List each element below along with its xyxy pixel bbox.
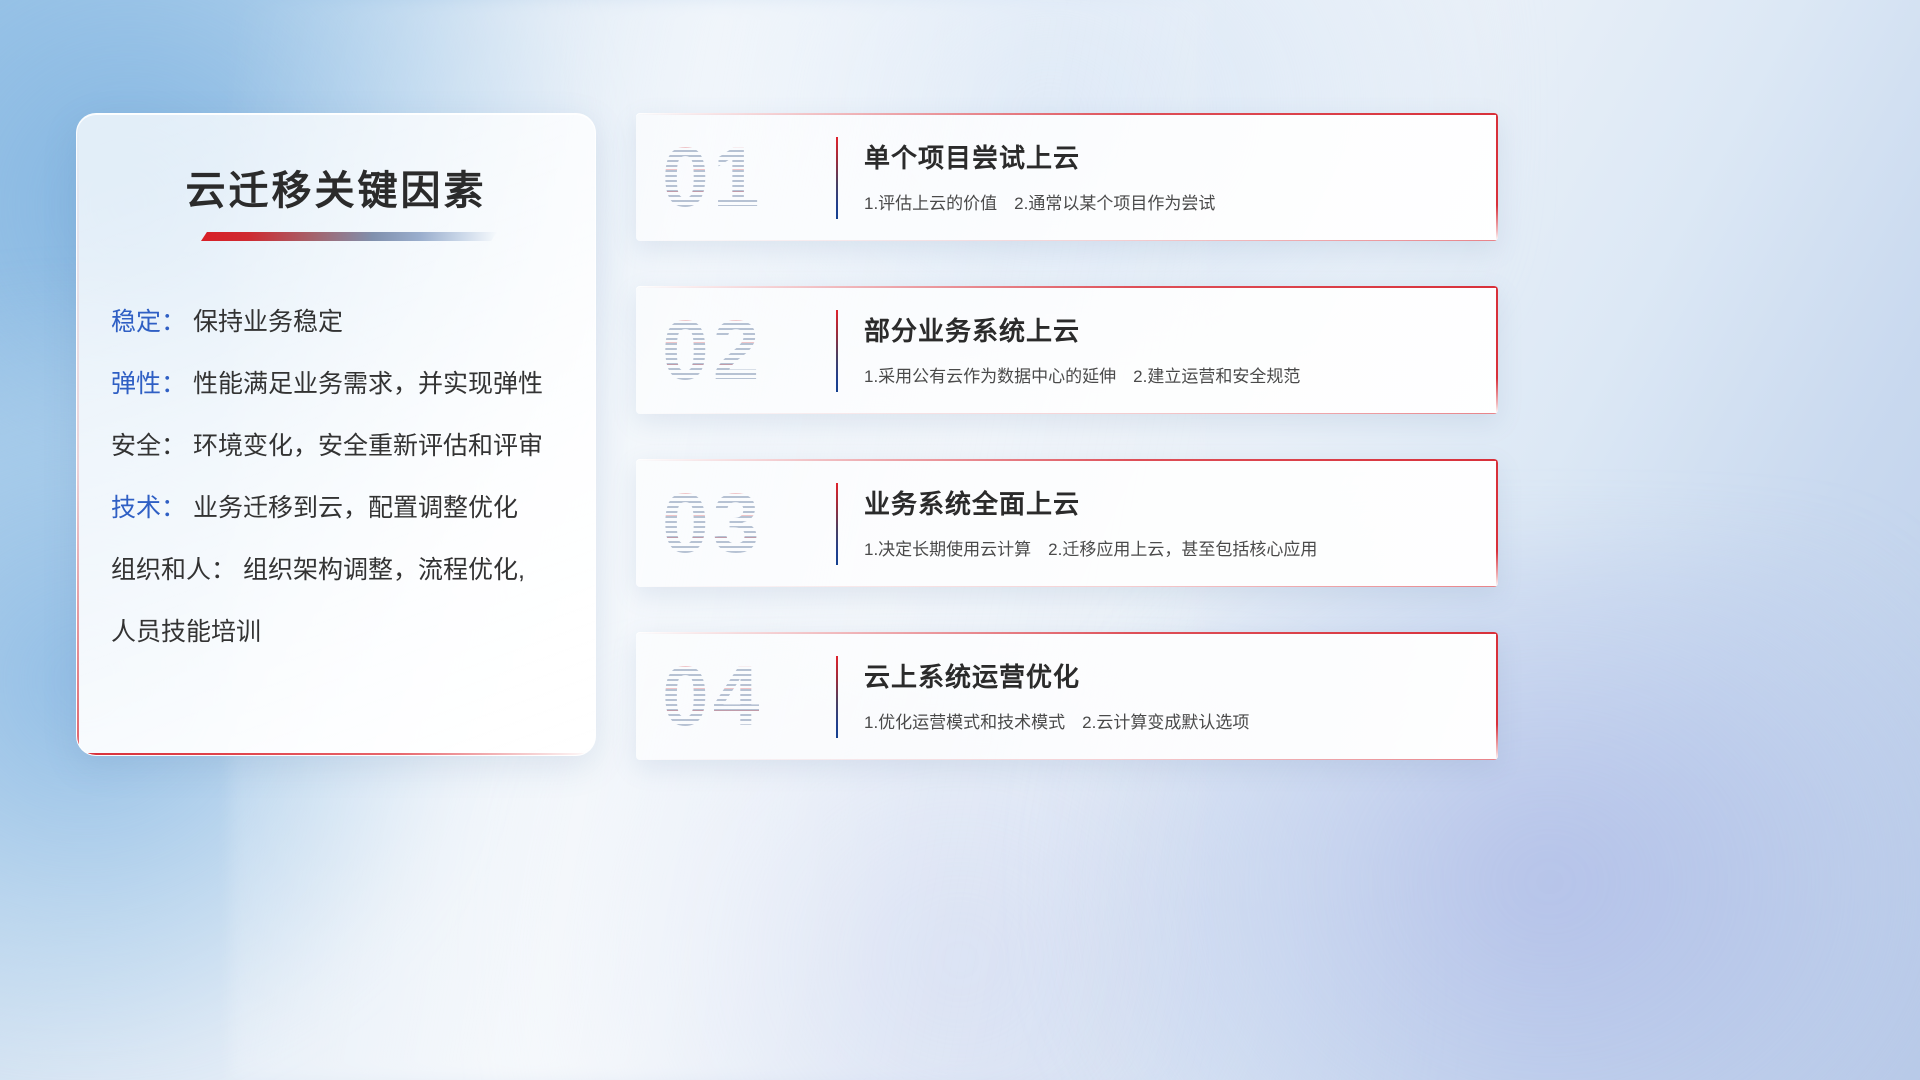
card-top-accent bbox=[636, 459, 1498, 461]
card-bottom-accent bbox=[636, 586, 1498, 587]
stage-card-title: 业务系统全面上云 bbox=[864, 484, 1080, 521]
stage-card-title: 部分业务系统上云 bbox=[864, 311, 1080, 348]
card-bottom-accent bbox=[636, 413, 1498, 414]
factor-value: 环境变化，安全重新评估和评审 bbox=[193, 432, 543, 460]
factor-label: 安全： bbox=[111, 432, 186, 460]
factor-row: 人员技能培训 bbox=[111, 620, 561, 645]
card-bottom-accent bbox=[636, 759, 1498, 760]
card-bottom-accent bbox=[636, 240, 1498, 241]
factor-value: 保持业务稳定 bbox=[193, 308, 343, 336]
stage-card-description: 1.采用公有云作为数据中心的延伸 2.建立运营和安全规范 bbox=[864, 362, 1300, 387]
page-title: 云迁移关键因素 bbox=[77, 158, 595, 216]
factor-row: 稳定： 保持业务稳定 bbox=[111, 310, 561, 335]
card-divider-bar bbox=[836, 656, 838, 738]
factor-label: 稳定： bbox=[111, 308, 186, 336]
key-factors-panel: 云迁移关键因素 稳定： 保持业务稳定弹性： 性能满足业务需求，并实现弹性安全： … bbox=[76, 113, 596, 756]
stage-card-description: 1.决定长期使用云计算 2.迁移应用上云，甚至包括核心应用 bbox=[864, 535, 1317, 560]
stage-card-description: 1.优化运营模式和技术模式 2.云计算变成默认选项 bbox=[864, 708, 1249, 733]
card-divider-bar bbox=[836, 310, 838, 392]
stage-card[interactable]: 0404云上系统运营优化1.优化运营模式和技术模式 2.云计算变成默认选项 bbox=[636, 632, 1498, 760]
stage-card-description: 1.评估上云的价值 2.通常以某个项目作为尝试 bbox=[864, 189, 1215, 214]
stage-number-watermark-tint: 03 bbox=[662, 471, 822, 575]
factor-label: 弹性： bbox=[111, 370, 186, 398]
card-top-accent bbox=[636, 632, 1498, 634]
stage-card-list: 0101单个项目尝试上云1.评估上云的价值 2.通常以某个项目作为尝试0202部… bbox=[636, 113, 1856, 760]
factor-value: 组织架构调整，流程优化, bbox=[243, 556, 525, 584]
factor-value: 人员技能培训 bbox=[111, 618, 261, 646]
factor-value: 性能满足业务需求，并实现弹性 bbox=[193, 370, 543, 398]
card-right-accent bbox=[1496, 459, 1498, 587]
card-right-accent bbox=[1496, 286, 1498, 414]
factor-value: 业务迁移到云，配置调整优化 bbox=[193, 494, 518, 522]
card-right-accent bbox=[1496, 632, 1498, 760]
title-underline-bar bbox=[201, 232, 497, 241]
stage-card-title: 云上系统运营优化 bbox=[864, 657, 1080, 694]
card-top-accent bbox=[636, 113, 1498, 115]
card-divider-bar bbox=[836, 483, 838, 565]
factor-row: 组织和人： 组织架构调整，流程优化, bbox=[111, 558, 561, 583]
stage-number-watermark-tint: 04 bbox=[662, 644, 822, 748]
factor-list: 稳定： 保持业务稳定弹性： 性能满足业务需求，并实现弹性安全： 环境变化，安全重… bbox=[77, 310, 595, 645]
stage-number-watermark-tint: 02 bbox=[662, 298, 822, 402]
factor-row: 弹性： 性能满足业务需求，并实现弹性 bbox=[111, 372, 561, 397]
factor-row: 安全： 环境变化，安全重新评估和评审 bbox=[111, 434, 561, 459]
stage-card[interactable]: 0303业务系统全面上云1.决定长期使用云计算 2.迁移应用上云，甚至包括核心应… bbox=[636, 459, 1498, 587]
factor-row: 技术： 业务迁移到云，配置调整优化 bbox=[111, 496, 561, 521]
stage-number-watermark-tint: 01 bbox=[662, 125, 822, 229]
card-divider-bar bbox=[836, 137, 838, 219]
factor-label: 技术： bbox=[111, 494, 186, 522]
stage-card[interactable]: 0202部分业务系统上云1.采用公有云作为数据中心的延伸 2.建立运营和安全规范 bbox=[636, 286, 1498, 414]
card-top-accent bbox=[636, 286, 1498, 288]
stage-card-title: 单个项目尝试上云 bbox=[864, 138, 1080, 175]
card-right-accent bbox=[1496, 113, 1498, 241]
factor-label: 组织和人： bbox=[111, 556, 236, 584]
stage-card[interactable]: 0101单个项目尝试上云1.评估上云的价值 2.通常以某个项目作为尝试 bbox=[636, 113, 1498, 241]
